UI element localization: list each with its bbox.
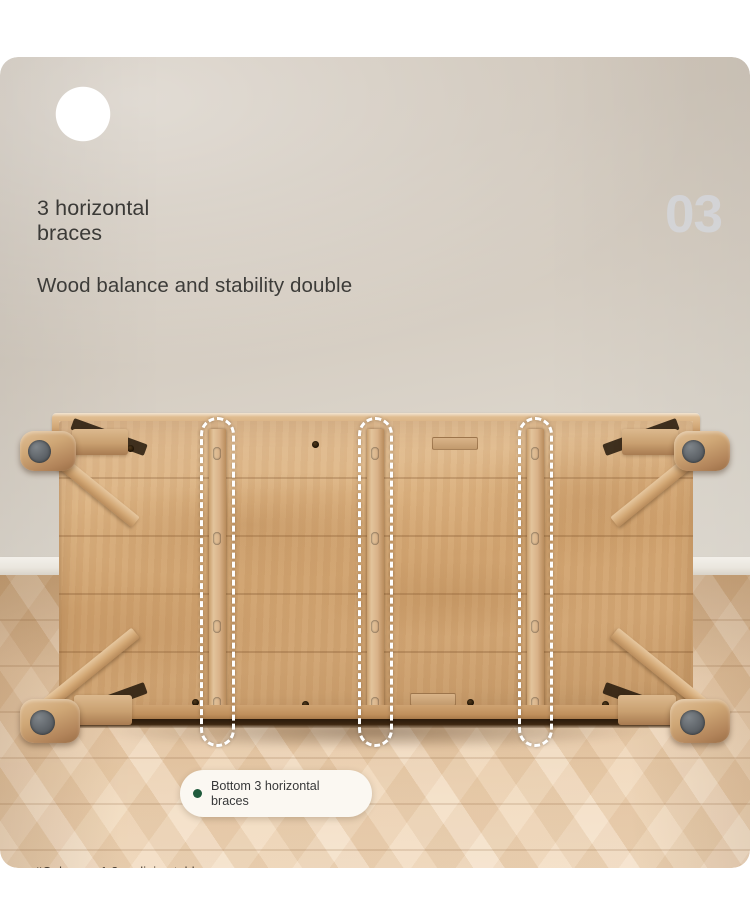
brace-screw: [213, 620, 221, 633]
footnote-text: #Only over 1.8 m dining table: [35, 865, 202, 868]
mounting-plate: [432, 437, 478, 450]
feature-panel: 3 horizontal braces Wood balance and sta…: [0, 57, 750, 868]
callout-pill: Bottom 3 horizontal braces: [180, 770, 372, 817]
leg-shaft-top-left: [72, 429, 128, 455]
table-leg-bottom-right: [670, 699, 730, 743]
brace-screw: [371, 620, 379, 633]
felt-pad-icon: [680, 710, 705, 735]
brace-screw: [371, 447, 379, 460]
felt-pad-icon: [30, 710, 55, 735]
horizontal-brace-2: [367, 429, 384, 717]
leg-shaft-top-right: [622, 429, 678, 455]
brace-screw: [531, 532, 539, 545]
brace-screw: [531, 620, 539, 633]
leg-shaft-bottom-left: [74, 695, 132, 725]
brace-screw: [531, 447, 539, 460]
dining-table-underside: [12, 369, 738, 769]
brace-screw: [213, 447, 221, 460]
page-title: 3 horizontal braces: [37, 196, 367, 246]
subtitle: Wood balance and stability double: [37, 273, 557, 299]
brace-screw: [213, 532, 221, 545]
hardware-screw: [127, 445, 134, 452]
product-feature-image: 3 horizontal braces Wood balance and sta…: [0, 0, 750, 914]
leg-shaft-bottom-right: [618, 695, 676, 725]
table-apron-top-highlight: [52, 413, 700, 417]
horizontal-brace-1: [209, 429, 226, 717]
table-under-shadow-gap: [56, 719, 696, 728]
step-number-watermark: 03: [665, 188, 722, 241]
table-leg-bottom-left: [20, 699, 80, 743]
hardware-screw: [312, 441, 319, 448]
callout-label: Bottom 3 horizontal braces: [211, 779, 320, 808]
felt-pad-icon: [28, 440, 51, 463]
horizontal-brace-3: [527, 429, 544, 717]
table-leg-top-right: [674, 431, 730, 471]
brace-screw: [371, 532, 379, 545]
table-leg-top-left: [20, 431, 76, 471]
bullet-dot-icon: [193, 789, 202, 798]
felt-pad-icon: [682, 440, 705, 463]
